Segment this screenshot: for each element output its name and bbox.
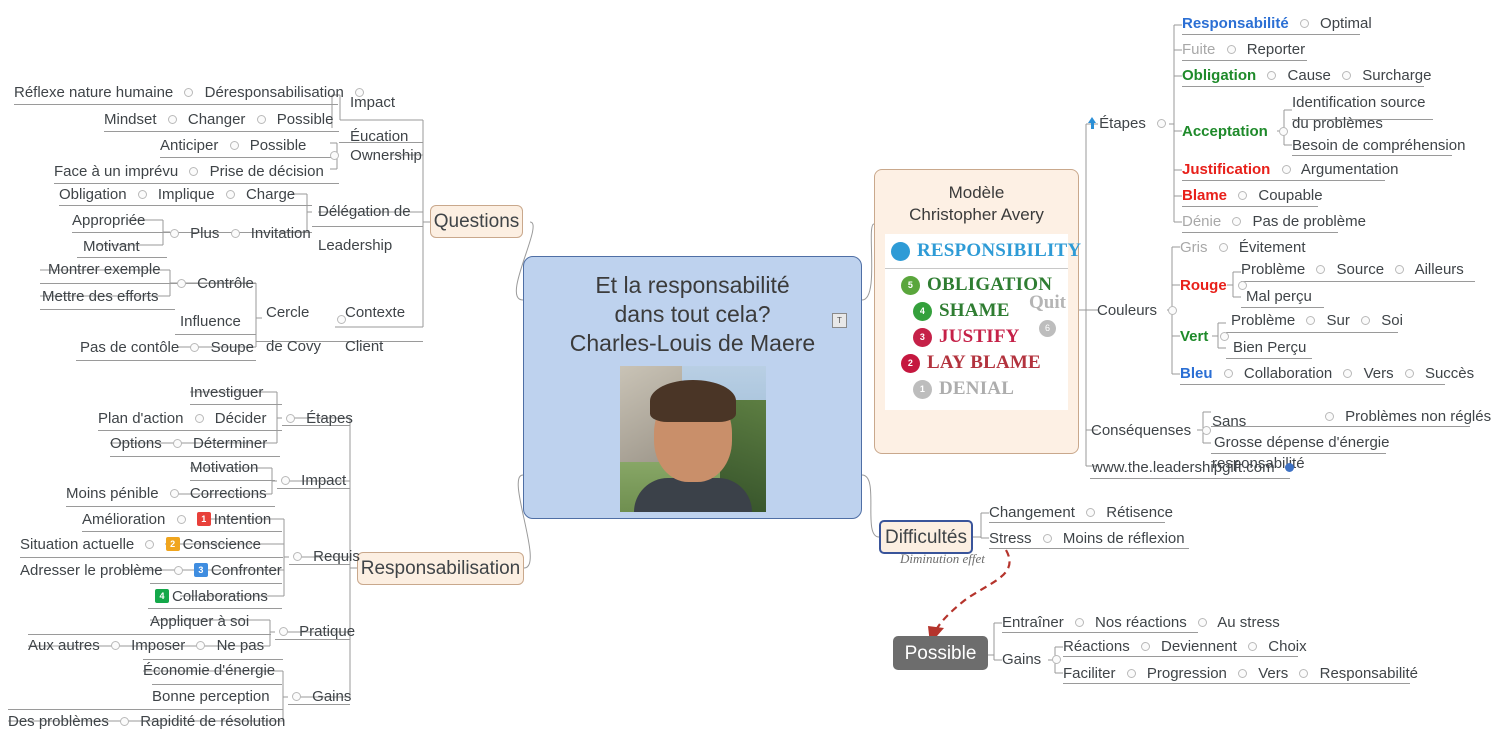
label-controle: Contrôle <box>197 275 254 292</box>
label-optimal: Optimal <box>1320 15 1372 32</box>
connector-dot <box>1238 669 1247 678</box>
row-controle[interactable]: Contrôle <box>170 275 254 292</box>
label-pratique: Pratique <box>299 623 355 640</box>
label-bleu: Bleu <box>1180 365 1213 382</box>
branch-underline <box>14 104 338 105</box>
node-responsabilisation[interactable]: Responsabilisation <box>357 552 524 585</box>
label-couleurs: Couleurs <box>1097 302 1157 319</box>
row-fuite-reporter[interactable]: Fuite Reporter <box>1182 41 1305 58</box>
label-reporter: Reporter <box>1247 41 1305 58</box>
label-possible-2: Possible <box>250 137 307 154</box>
label-evitement: Évitement <box>1239 239 1306 256</box>
row-entrainer[interactable]: Entraîner Nos réactions Au stress <box>1002 614 1280 631</box>
connector-dot <box>286 414 295 423</box>
connector-dot <box>279 627 288 636</box>
row-requis[interactable]: Requis <box>286 548 360 565</box>
connector-dot <box>145 540 154 549</box>
row-pratique[interactable]: Pratique <box>272 623 355 640</box>
connector-dot <box>292 692 301 701</box>
branch-underline <box>1226 358 1312 359</box>
row-reflexe[interactable]: Réflexe nature humaine Déresponsabilisat… <box>14 84 371 101</box>
photo-shirt <box>634 478 752 512</box>
connector-dot <box>1127 669 1136 678</box>
label-besoin-comprehension[interactable]: Besoin de compréhension <box>1292 137 1465 154</box>
row-des-problemes[interactable]: Des problèmes Rapidité de résolution <box>8 713 285 730</box>
label-coupable: Coupable <box>1258 187 1322 204</box>
model-title-line2: Christopher Avery <box>879 204 1074 226</box>
connector-dot <box>230 141 239 150</box>
row-obligation-cause[interactable]: Obligation Cause Surcharge <box>1182 67 1431 84</box>
label-cause: Cause <box>1288 67 1331 84</box>
label-rouge-probleme: Problème <box>1241 261 1305 278</box>
branch-underline <box>54 183 339 184</box>
label-soupe: Soupe <box>211 339 254 356</box>
label-pas-de-probleme: Pas de problème <box>1253 213 1366 230</box>
row-consequenses[interactable]: Conséquenses <box>1091 422 1218 439</box>
connector-dot <box>1227 45 1236 54</box>
label-appliquer-a-soi[interactable]: Appliquer à soi <box>150 613 249 630</box>
connector-dot <box>1052 655 1061 664</box>
label-plan-action: Plan d'action <box>98 410 183 427</box>
label-vert-soi: Soi <box>1381 312 1403 329</box>
branch-underline <box>148 608 282 609</box>
label-options: Options <box>110 435 162 452</box>
row-imprevu[interactable]: Face à un imprévu Prise de décision <box>54 163 324 180</box>
level-label-justify: Justify <box>939 326 1020 348</box>
row-faciliter[interactable]: Faciliter Progression Vers Responsabilit… <box>1063 665 1418 682</box>
label-de-covy: de Covy <box>266 338 321 355</box>
photo-hair <box>650 380 736 422</box>
row-denie[interactable]: Dénie Pas de problème <box>1182 213 1366 230</box>
connector-dot <box>120 717 129 726</box>
label-rouge-source: Source <box>1337 261 1385 278</box>
row-anticiper[interactable]: Anticiper Possible <box>160 137 306 154</box>
label-impact-left: Impact <box>301 472 346 489</box>
connector-dot <box>174 566 183 575</box>
branch-underline <box>1182 86 1424 87</box>
connector-dot <box>1395 265 1404 274</box>
row-pas-de-controle[interactable]: Pas de contôle Soupe <box>80 339 254 356</box>
label-cercle-de-covy[interactable]: Cercle de Covy <box>266 287 321 355</box>
label-retisence: Rétisence <box>1106 504 1173 521</box>
row-ownership[interactable]: Ownership <box>323 147 422 164</box>
label-responsabilite-possible: Responsabilité <box>1320 665 1418 682</box>
row-changement[interactable]: Changement Rétisence <box>989 504 1173 521</box>
label-responsabilite: Responsabilité <box>1182 15 1289 32</box>
branch-underline <box>59 205 312 206</box>
label-economie-energie[interactable]: Économie d'énergie <box>143 662 275 679</box>
row-situation-actuelle[interactable]: Situation actuelle 2Conscience <box>20 536 261 553</box>
connector-dot <box>1202 426 1211 435</box>
connector-dot <box>1325 412 1334 421</box>
row-etapes-left[interactable]: Étapes <box>279 410 353 427</box>
label-aux-autres: Aux autres <box>28 637 100 654</box>
row-rouge-probleme[interactable]: Problème Source Ailleurs <box>1241 261 1464 278</box>
badge-4-icon: 4 <box>155 589 169 603</box>
label-cercle: Cercle <box>266 304 309 321</box>
branch-underline <box>143 659 283 660</box>
branch-underline <box>1063 656 1298 657</box>
central-title-line1: Et la responsabilité <box>524 271 861 300</box>
label-gains-left: Gains <box>312 688 351 705</box>
label-amelioration: Amélioration <box>82 511 165 528</box>
row-problemes-non-regles[interactable]: Problèmes non réglés <box>1318 408 1491 425</box>
label-vert-probleme: Problème <box>1231 312 1295 329</box>
connector-dot <box>177 279 186 288</box>
model-level-responsibility: Responsibility <box>885 240 1068 269</box>
connector-dot <box>177 515 186 524</box>
row-impact-left[interactable]: Impact <box>274 472 346 489</box>
label-vert-sur: Sur <box>1327 312 1350 329</box>
label-bonne-perception[interactable]: Bonne perception <box>152 688 270 705</box>
connector-dot <box>196 641 205 650</box>
label-appropriee[interactable]: Appropriée <box>72 212 145 229</box>
label-deresponsabilisation: Déresponsabilisation <box>205 84 344 101</box>
connector-dot <box>173 439 182 448</box>
branch-underline <box>1241 281 1475 282</box>
connector-dot <box>1343 369 1352 378</box>
label-delegation-line2: Leadership <box>318 237 392 254</box>
row-moins-penible[interactable]: Moins pénible Corrections <box>66 485 267 502</box>
connector-dot <box>1316 265 1325 274</box>
mindmap-canvas: Et la responsabilité dans tout cela? Cha… <box>0 0 1493 753</box>
connector-dot <box>226 190 235 199</box>
row-etapes-right[interactable]: Étapes <box>1092 115 1173 132</box>
branch-underline <box>989 522 1165 523</box>
badge-3-icon: 3 <box>194 563 208 577</box>
label-prise-de-decision: Prise de décision <box>210 163 324 180</box>
node-difficultes[interactable]: Difficultés <box>879 520 973 554</box>
connector-dot <box>1300 19 1309 28</box>
connector-dot <box>1157 119 1166 128</box>
connector-dot <box>189 167 198 176</box>
branch-underline <box>110 456 280 457</box>
label-progression: Progression <box>1147 665 1227 682</box>
branch-underline <box>77 257 167 258</box>
connector-dot <box>1342 71 1351 80</box>
branch-underline <box>152 684 282 685</box>
connector-dot <box>257 115 266 124</box>
label-sans: Sans <box>1212 413 1246 430</box>
label-entrainer: Entraîner <box>1002 614 1064 631</box>
row-adresser-probleme[interactable]: Adresser le problème 3Confronter <box>20 562 282 579</box>
connector-dot <box>281 476 290 485</box>
label-bleu-vers: Vers <box>1364 365 1394 382</box>
label-mettre-des-efforts[interactable]: Mettre des efforts <box>42 288 158 305</box>
label-website: www.the.leadershipgift.com <box>1092 459 1275 476</box>
branch-underline <box>20 557 283 558</box>
label-impact: Impact <box>350 94 395 111</box>
label-etapes-right: Étapes <box>1099 115 1146 132</box>
label-invitation: Invitation <box>251 225 311 242</box>
label-situation-actuelle: Situation actuelle <box>20 536 134 553</box>
label-consequenses: Conséquenses <box>1091 422 1191 439</box>
connector-dot <box>1238 191 1247 200</box>
label-determiner: Déterminer <box>193 435 267 452</box>
label-plus: Plus <box>190 225 219 242</box>
label-etapes-left: Étapes <box>306 410 353 427</box>
label-problemes-non-regles: Problèmes non réglés <box>1345 408 1491 425</box>
connector-dot <box>111 641 120 650</box>
connector-dot <box>1198 618 1207 627</box>
label-gris: Gris <box>1180 239 1208 256</box>
branch-underline <box>1090 478 1290 479</box>
label-contexte: Contexte <box>345 304 405 321</box>
connector-dot <box>190 343 199 352</box>
connector-dot <box>138 190 147 199</box>
row-gris[interactable]: Gris Évitement <box>1180 239 1306 256</box>
level-label-shame: Shame <box>939 300 1010 322</box>
connector-dot <box>1232 217 1241 226</box>
model-level-lay-blame: 2 Lay Blame <box>885 352 1068 374</box>
branch-underline <box>1182 206 1318 207</box>
label-client: Client <box>345 338 383 355</box>
row-vert[interactable]: Vert <box>1180 328 1236 345</box>
row-vert-probleme[interactable]: Problème Sur Soi <box>1231 312 1403 329</box>
row-responsabilite-optimal[interactable]: Responsabilité Optimal <box>1182 15 1372 32</box>
level-bullet-lay-blame: 2 <box>901 354 920 373</box>
branch-underline <box>82 531 282 532</box>
model-title-line1: Modèle <box>879 182 1074 204</box>
quit-label: Quit <box>1029 292 1066 313</box>
branch-underline <box>40 309 175 310</box>
level-bullet-responsibility <box>891 242 910 261</box>
branch-underline <box>1182 232 1338 233</box>
label-pas-de-controle: Pas de contôle <box>80 339 179 356</box>
central-node[interactable]: Et la responsabilité dans tout cela? Cha… <box>523 256 862 519</box>
label-montrer-exemple[interactable]: Montrer exemple <box>48 261 161 278</box>
branch-underline <box>190 404 282 405</box>
branch-underline <box>8 709 283 710</box>
connector-dot <box>1219 243 1228 252</box>
row-mindset[interactable]: Mindset Changer Possible <box>104 111 333 128</box>
connector-dot <box>170 489 179 498</box>
connector-dot <box>170 229 179 238</box>
branch-underline <box>1226 332 1398 333</box>
row-blame[interactable]: Blame Coupable <box>1182 187 1323 204</box>
level-bullet-obligation: 5 <box>901 276 920 295</box>
label-moins-penible: Moins pénible <box>66 485 159 502</box>
connector-dot <box>293 552 302 561</box>
connector-dot <box>1248 642 1257 651</box>
connector-dot <box>1306 316 1315 325</box>
label-denie: Dénie <box>1182 213 1221 230</box>
label-grosse-depense[interactable]: Grosse dépense d'énergie <box>1214 434 1389 451</box>
label-conscience: Conscience <box>183 536 261 553</box>
quit-number: 6 <box>1039 320 1056 337</box>
branch-underline <box>1182 34 1360 35</box>
branch-underline <box>66 506 275 507</box>
label-gains-right: Gains <box>1002 651 1041 668</box>
row-obligation[interactable]: Obligation Implique Charge <box>59 186 295 203</box>
label-contexte-client[interactable]: Contexte Client <box>345 287 405 355</box>
label-identification-source[interactable]: Identification source du problèmes <box>1292 92 1425 134</box>
label-possible-1: Possible <box>277 111 334 128</box>
branch-underline <box>989 548 1189 549</box>
label-bien-percu[interactable]: Bien Perçu <box>1233 339 1306 356</box>
branch-underline <box>1002 632 1198 633</box>
connector-dot <box>330 151 339 160</box>
relation-label: Diminution effet <box>900 551 985 567</box>
label-confronter: Confronter <box>211 562 282 579</box>
label-impact-eucation[interactable]: Impact Éucation <box>350 77 408 145</box>
label-au-stress: Au stress <box>1217 614 1280 631</box>
row-reactions-deviennent[interactable]: Réactions Deviennent Choix <box>1063 638 1307 655</box>
branch-underline <box>1180 384 1445 385</box>
label-mindset: Mindset <box>104 111 157 128</box>
label-anticiper: Anticiper <box>160 137 218 154</box>
label-fuite: Fuite <box>1182 41 1215 58</box>
node-possible[interactable]: Possible <box>893 636 988 670</box>
connector-dot <box>1043 534 1052 543</box>
label-motivation[interactable]: Motivation <box>190 459 258 476</box>
connector-dot <box>1075 618 1084 627</box>
label-imposer: Imposer <box>131 637 185 654</box>
label-changement: Changement <box>989 504 1075 521</box>
branch-underline <box>98 430 282 431</box>
level-label-denial: Denial <box>939 378 1014 400</box>
note-icon[interactable]: T <box>832 313 847 328</box>
connector-dot <box>1224 369 1233 378</box>
level-bullet-justify: 3 <box>913 328 932 347</box>
row-plus-invitation[interactable]: Plus Invitation <box>163 225 311 242</box>
model-quit: Quit 6 <box>1029 292 1066 337</box>
label-surcharge: Surcharge <box>1362 67 1431 84</box>
label-deviennent: Deviennent <box>1161 638 1237 655</box>
label-obligation: Obligation <box>59 186 127 203</box>
label-investiguer[interactable]: Investiguer <box>190 384 263 401</box>
label-acceptation: Acceptation <box>1182 123 1268 140</box>
label-vert: Vert <box>1180 328 1208 345</box>
row-collaborations[interactable]: 4Collaborations <box>155 588 268 605</box>
label-rapidite-resolution: Rapidité de résolution <box>140 713 285 730</box>
label-corrections: Corrections <box>190 485 267 502</box>
label-blame: Blame <box>1182 187 1227 204</box>
label-intention: Intention <box>214 511 272 528</box>
label-implique: Implique <box>158 186 215 203</box>
label-requis: Requis <box>313 548 360 565</box>
label-succes: Succès <box>1425 365 1474 382</box>
row-acceptation[interactable]: Acceptation <box>1182 123 1295 140</box>
connector-dot <box>1361 316 1370 325</box>
connector-dot <box>195 414 204 423</box>
node-questions[interactable]: Questions <box>430 205 523 238</box>
level-bullet-denial: 1 <box>913 380 932 399</box>
branch-underline <box>150 583 282 584</box>
connector-dot <box>1168 306 1177 315</box>
connector-dot <box>231 229 240 238</box>
label-reactions: Réactions <box>1063 638 1130 655</box>
label-charge: Charge <box>246 186 295 203</box>
row-amelioration[interactable]: Amélioration 1Intention <box>82 511 271 528</box>
label-nos-reactions: Nos réactions <box>1095 614 1187 631</box>
branch-underline <box>175 334 256 335</box>
level-label-responsibility: Responsibility <box>917 240 1081 262</box>
branch-underline <box>1182 180 1385 181</box>
level-bullet-shame: 4 <box>913 302 932 321</box>
row-gains-right[interactable]: Gains <box>1002 651 1068 668</box>
label-des-problemes: Des problèmes <box>8 713 109 730</box>
label-rouge: Rouge <box>1180 277 1227 294</box>
connector-dot <box>1282 165 1291 174</box>
badge-1-icon: 1 <box>197 512 211 526</box>
connector-dot <box>1220 332 1229 341</box>
branch-underline <box>76 360 256 361</box>
label-argumentation: Argumentation <box>1301 161 1399 178</box>
branch-underline <box>104 131 339 132</box>
branch-underline <box>1063 683 1410 684</box>
label-vers: Vers <box>1258 665 1288 682</box>
level-label-lay-blame: Lay Blame <box>927 352 1041 374</box>
branch-underline <box>1292 155 1452 156</box>
link-dot-icon <box>1285 463 1294 472</box>
label-rouge-ailleurs: Ailleurs <box>1415 261 1464 278</box>
label-changer: Changer <box>188 111 246 128</box>
model-level-denial: 1 Denial <box>885 378 1068 400</box>
branch-underline <box>28 634 271 635</box>
label-decider: Décider <box>215 410 267 427</box>
branch-underline <box>1241 307 1324 308</box>
branch-underline <box>1182 60 1307 61</box>
connector-dot <box>1299 669 1308 678</box>
label-influence[interactable]: Influence <box>180 313 241 330</box>
connector-dot <box>1267 71 1276 80</box>
label-collaboration: Collaboration <box>1244 365 1332 382</box>
connector-dot <box>1086 508 1095 517</box>
row-website[interactable]: www.the.leadershipgift.com <box>1092 459 1294 476</box>
row-stress[interactable]: Stress Moins de réflexion <box>989 530 1185 547</box>
connector-dot <box>1141 642 1150 651</box>
label-delegation-leadership[interactable]: Délégation de Leadership <box>318 186 411 254</box>
label-ownership: Ownership <box>350 147 422 164</box>
label-moins-de-reflexion: Moins de réflexion <box>1063 530 1185 547</box>
label-adresser-le-probleme: Adresser le problème <box>20 562 163 579</box>
central-title: Et la responsabilité dans tout cela? Cha… <box>524 257 861 358</box>
label-delegation-line1: Délégation de <box>318 203 411 220</box>
row-options[interactable]: Options Déterminer <box>110 435 267 452</box>
row-bleu[interactable]: Bleu Collaboration Vers Succès <box>1180 365 1474 382</box>
model-title: Modèle Christopher Avery <box>875 170 1078 230</box>
row-aux-autres[interactable]: Aux autres Imposer Ne pas <box>28 637 264 654</box>
label-mal-percu[interactable]: Mal perçu <box>1246 288 1312 305</box>
label-stress: Stress <box>989 530 1032 547</box>
branch-underline <box>190 480 275 481</box>
label-motivant[interactable]: Motivant <box>83 238 140 255</box>
connector-dot <box>1279 127 1288 136</box>
central-title-line2: dans tout cela? <box>524 300 861 329</box>
label-faciliter: Faciliter <box>1063 665 1116 682</box>
row-gains-left[interactable]: Gains <box>285 688 351 705</box>
connector-dot <box>168 115 177 124</box>
avatar-photo <box>620 366 766 512</box>
label-collaborations: Collaborations <box>172 588 268 605</box>
row-plan-action[interactable]: Plan d'action Décider <box>98 410 266 427</box>
row-rouge[interactable]: Rouge <box>1180 277 1254 294</box>
branch-underline <box>160 157 338 158</box>
row-justification[interactable]: Justification Argumentation <box>1182 161 1398 178</box>
central-title-line3: Charles-Louis de Maere <box>524 329 861 358</box>
label-obligation-right: Obligation <box>1182 67 1256 84</box>
label-reflexe-nature-humaine: Réflexe nature humaine <box>14 84 173 101</box>
row-couleurs[interactable]: Couleurs <box>1097 302 1184 319</box>
connector-dot <box>1405 369 1414 378</box>
label-choix: Choix <box>1268 638 1306 655</box>
label-ne-pas: Ne pas <box>217 637 265 654</box>
label-justification: Justification <box>1182 161 1270 178</box>
label-eucation: Éucation <box>350 128 408 145</box>
connector-dot <box>184 88 193 97</box>
label-face-a-un-imprevu: Face à un imprévu <box>54 163 178 180</box>
